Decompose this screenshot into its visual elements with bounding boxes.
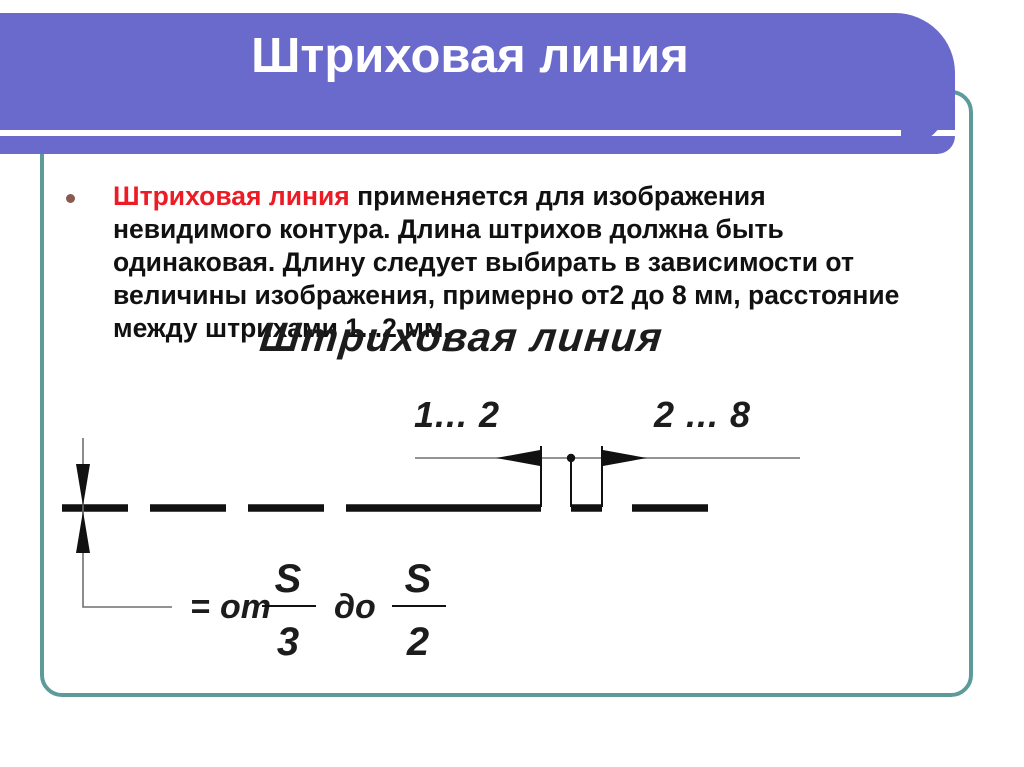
formula-from-denominator: 3 (277, 620, 299, 664)
gap-dimension-label: 1... 2 (414, 394, 500, 435)
title-banner-lower-bar (0, 136, 955, 154)
formula-to-denominator: 2 (406, 620, 429, 664)
dash-dimension-label: 2 ... 8 (653, 394, 751, 435)
page-title: Штриховая линия (0, 26, 940, 86)
formula-from-numerator: S (275, 557, 302, 601)
thickness-arrow-up (76, 511, 90, 553)
dash-right-arrowhead (603, 450, 647, 466)
list-item-lead-term: Штриховая линия (113, 181, 350, 211)
dashed-line-figure: .thin { stroke:#6f6f6f; stroke-width:1.6… (40, 300, 973, 690)
formula-to-numerator: S (405, 557, 432, 601)
gap-left-arrowhead (496, 450, 540, 466)
slide: Штриховая линия Штриховая линия применяе… (0, 0, 1024, 767)
thickness-leader-elbow (83, 600, 172, 607)
formula-equals: = (190, 588, 210, 626)
bullet-dot-icon (66, 194, 75, 203)
thickness-formula: = от S 3 до S 2 (190, 557, 446, 664)
title-divider-stripe (0, 130, 901, 136)
thickness-arrow-down (76, 464, 90, 506)
formula-to-word: до (334, 588, 376, 626)
figure-caption: Штриховая линия (258, 314, 666, 360)
